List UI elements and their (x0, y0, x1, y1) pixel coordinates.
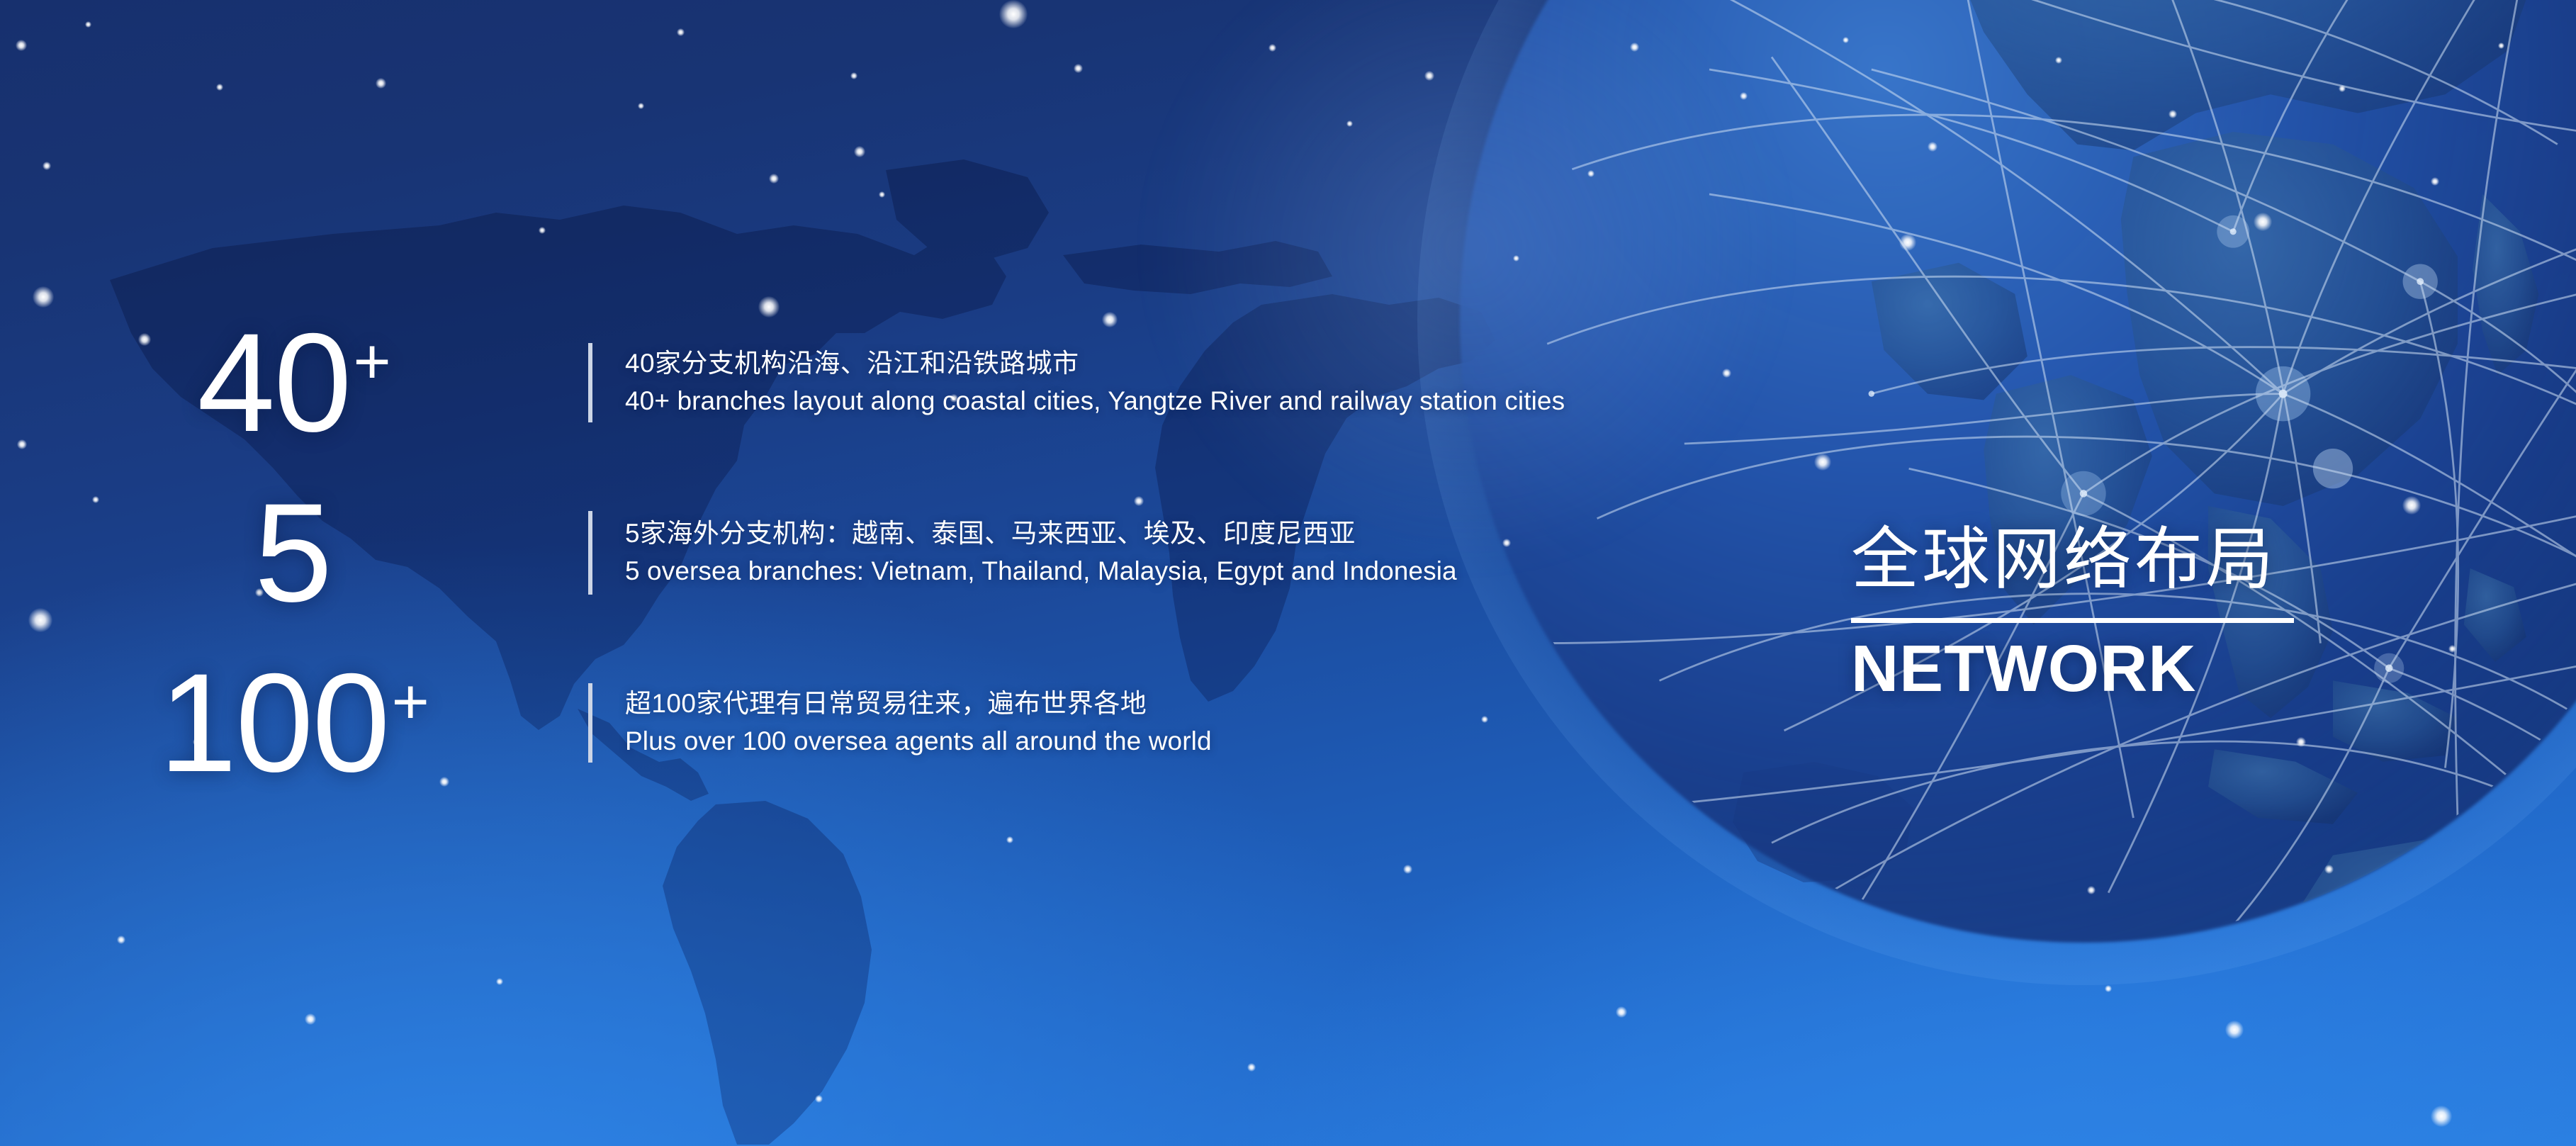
stat-description-en: 40+ branches layout along coastal cities… (625, 383, 1565, 420)
stat-text-group: 40家分支机构沿海、沿江和沿铁路城市 40+ branches layout a… (625, 345, 1565, 420)
stat-number-value: 5 (254, 474, 331, 631)
stat-number-value: 40 (197, 304, 350, 461)
section-title-en: NETWORK (1851, 636, 2305, 702)
stat-row: 40+ 40家分支机构沿海、沿江和沿铁路城市 40+ branches layo… (0, 298, 1474, 468)
stat-description-en: Plus over 100 oversea agents all around … (625, 723, 1474, 760)
stat-row: 100+ 超100家代理有日常贸易往来，遍布世界各地 Plus over 100… (0, 638, 1474, 808)
stat-divider (588, 343, 592, 422)
stat-text-group: 5家海外分支机构：越南、泰国、马来西亚、埃及、印度尼西亚 5 oversea b… (625, 515, 1474, 590)
title-divider-rule (1851, 618, 2294, 623)
stat-number: 5 (0, 483, 588, 623)
stat-number-value: 100 (159, 644, 388, 801)
stat-description-cn: 5家海外分支机构：越南、泰国、马来西亚、埃及、印度尼西亚 (625, 515, 1474, 553)
stat-number-suffix: + (392, 666, 429, 738)
stat-description-en: 5 oversea branches: Vietnam, Thailand, M… (625, 553, 1474, 590)
stat-row: 5 5家海外分支机构：越南、泰国、马来西亚、埃及、印度尼西亚 5 oversea… (0, 468, 1474, 638)
stat-text-group: 超100家代理有日常贸易往来，遍布世界各地 Plus over 100 over… (625, 685, 1474, 760)
stat-number: 40+ (0, 313, 588, 453)
stat-divider (588, 683, 592, 763)
banner-stage: 40+ 40家分支机构沿海、沿江和沿铁路城市 40+ branches layo… (0, 0, 2576, 1146)
stat-number: 100+ (0, 653, 588, 793)
stat-description-cn: 40家分支机构沿海、沿江和沿铁路城市 (625, 345, 1565, 383)
stat-description-cn: 超100家代理有日常贸易往来，遍布世界各地 (625, 685, 1474, 723)
stats-list: 40+ 40家分支机构沿海、沿江和沿铁路城市 40+ branches layo… (0, 298, 1474, 808)
stat-number-suffix: + (354, 326, 391, 398)
globe-graphic (1460, 0, 2576, 943)
stat-divider (588, 511, 592, 595)
section-title-cn: 全球网络布局 (1851, 526, 2305, 594)
section-title-block: 全球网络布局 NETWORK (1851, 526, 2305, 702)
